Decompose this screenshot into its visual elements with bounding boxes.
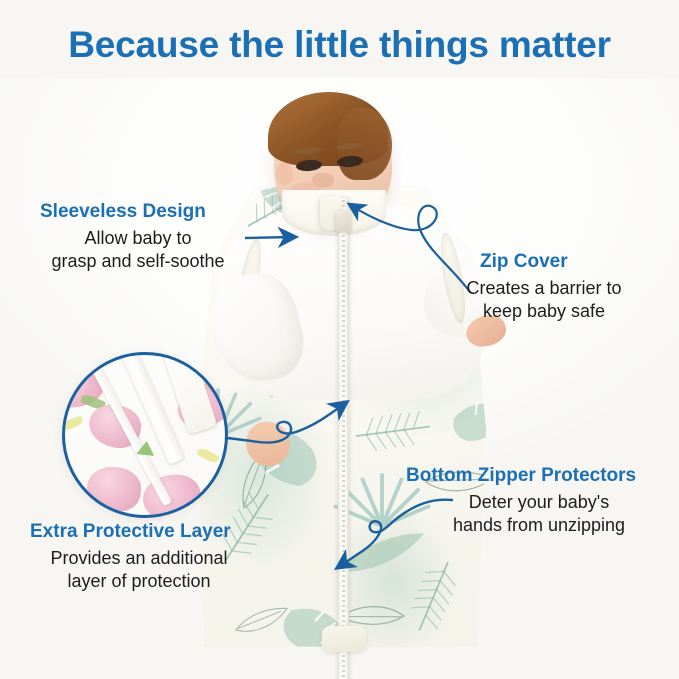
extra-protective-layer-closeup	[62, 352, 228, 518]
bottom-zipper-protector	[322, 626, 366, 652]
callout-body: Provides an additional layer of protecti…	[14, 547, 264, 593]
page-title: Because the little things matter	[0, 22, 679, 68]
callout-body-line1: Provides an additional	[14, 547, 264, 570]
callout-body: Allow baby to grasp and self-soothe	[24, 227, 252, 273]
callout-sleeveless-design: Sleeveless Design Allow baby to grasp an…	[38, 200, 252, 273]
callout-body-line2: keep baby safe	[444, 300, 644, 323]
baby-nose	[312, 173, 334, 188]
callout-bottom-zipper-protectors: Bottom Zipper Protectors Deter your baby…	[406, 464, 668, 537]
flower-motif	[84, 463, 144, 514]
callout-title: Sleeveless Design	[40, 200, 252, 224]
leaf-motif	[62, 416, 84, 432]
callout-title: Zip Cover	[480, 250, 644, 274]
closeup-green-tab	[136, 440, 155, 456]
callout-title: Bottom Zipper Protectors	[406, 464, 668, 488]
leaf-motif	[196, 446, 220, 465]
callout-body-line2: layer of protection	[14, 570, 264, 593]
baby-ear	[276, 162, 293, 185]
callout-body-line1: Creates a barrier to	[444, 277, 644, 300]
callout-extra-protective-layer: Extra Protective Layer Provides an addit…	[22, 520, 264, 593]
product-infographic: Because the little things matter	[0, 0, 679, 679]
closeup-fabric	[65, 355, 225, 515]
callout-title: Extra Protective Layer	[30, 520, 264, 544]
callout-body-line2: hands from unzipping	[410, 514, 668, 537]
zipper-pull	[335, 210, 351, 232]
callout-body: Creates a barrier to keep baby safe	[444, 277, 644, 323]
callout-body-line2: grasp and self-soothe	[24, 250, 252, 273]
callout-zip-cover: Zip Cover Creates a barrier to keep baby…	[444, 250, 644, 323]
zipper-teeth	[342, 200, 345, 679]
callout-body: Deter your baby's hands from unzipping	[410, 491, 668, 537]
callout-body-line1: Deter your baby's	[410, 491, 668, 514]
callout-body-line1: Allow baby to	[24, 227, 252, 250]
